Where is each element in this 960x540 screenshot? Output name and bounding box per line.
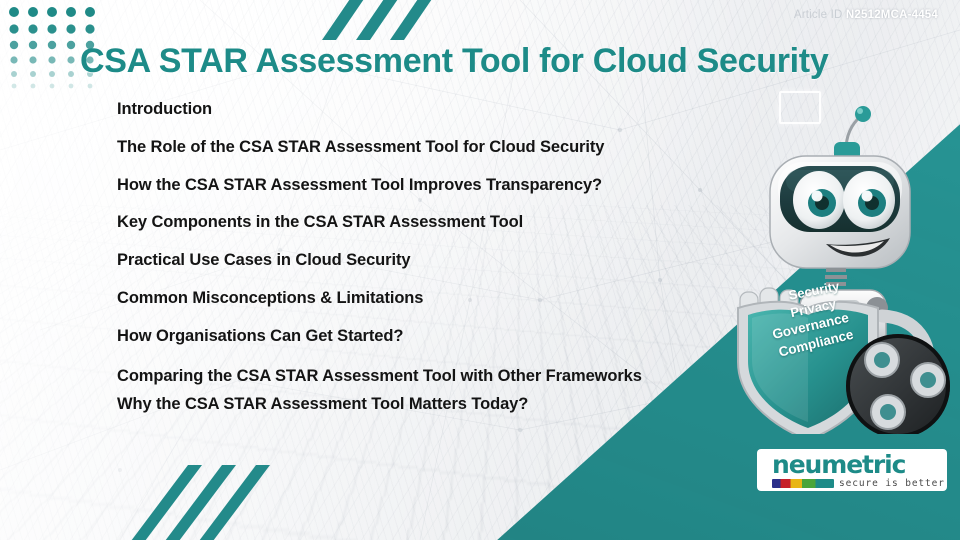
toc-item[interactable]: How Organisations Can Get Started? bbox=[117, 328, 717, 345]
page-title: CSA STAR Assessment Tool for Cloud Secur… bbox=[80, 42, 900, 80]
toc-item[interactable]: Why the CSA STAR Assessment Tool Matters… bbox=[117, 396, 717, 413]
diagonal-stripes-top bbox=[322, 0, 442, 40]
toc-item[interactable]: How the CSA STAR Assessment Tool Improve… bbox=[117, 177, 717, 194]
toc-item[interactable]: Comparing the CSA STAR Assessment Tool w… bbox=[117, 366, 657, 387]
rainbow-bar-icon bbox=[772, 479, 834, 488]
article-id-label: Article ID bbox=[794, 9, 843, 21]
logo-text-block: neumetric secure is better bbox=[772, 452, 945, 489]
toc-item[interactable]: Introduction bbox=[117, 101, 717, 118]
table-of-contents: Introduction The Role of the CSA STAR As… bbox=[117, 101, 717, 433]
slide-root: Article ID N2512MCA-4454 CSA STAR Assess… bbox=[0, 0, 960, 540]
robot-mascot bbox=[722, 104, 960, 434]
neumetric-logo[interactable]: neumetric secure is better bbox=[757, 449, 947, 491]
logo-tagline: secure is better bbox=[839, 479, 945, 489]
logo-wordmark: neumetric bbox=[772, 452, 945, 477]
article-id-value: N2512MCA-4454 bbox=[846, 9, 938, 21]
article-id: Article ID N2512MCA-4454 bbox=[794, 9, 938, 21]
diagonal-stripes-bottom bbox=[128, 455, 273, 540]
logo-subline: secure is better bbox=[772, 479, 945, 489]
toc-item[interactable]: The Role of the CSA STAR Assessment Tool… bbox=[117, 139, 717, 156]
toc-item[interactable]: Practical Use Cases in Cloud Security bbox=[117, 252, 717, 269]
toc-item[interactable]: Common Misconceptions & Limitations bbox=[117, 290, 717, 307]
toc-item[interactable]: Key Components in the CSA STAR Assessmen… bbox=[117, 214, 717, 231]
